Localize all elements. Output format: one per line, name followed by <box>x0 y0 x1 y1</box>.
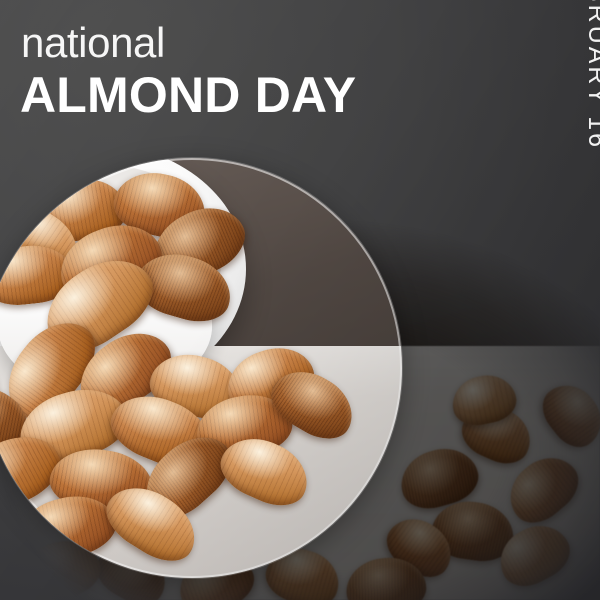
poster-canvas: national ALMOND DAY FEBRUARY 16 <box>0 0 600 600</box>
kicker-text: national <box>21 22 165 64</box>
page-title: ALMOND DAY <box>20 70 356 120</box>
date-label: FEBRUARY 16 <box>584 0 600 150</box>
